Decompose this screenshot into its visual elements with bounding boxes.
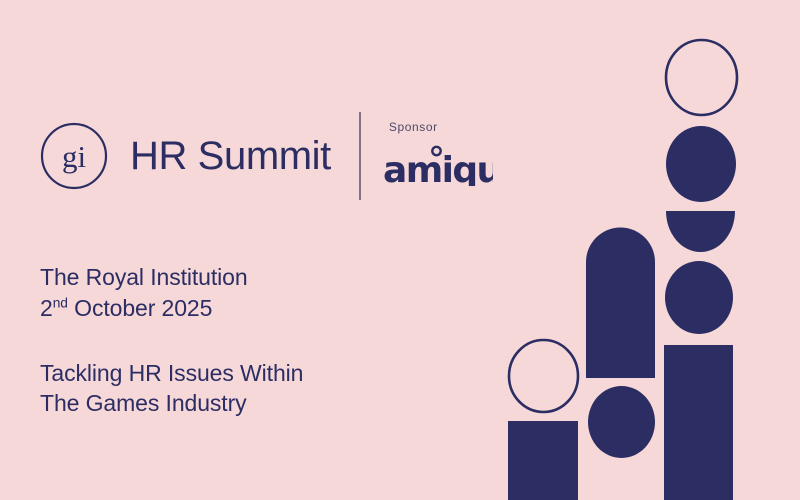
amiqus-logo-icon: amiqus: [383, 144, 493, 186]
semicircle-filled-right-icon: [666, 170, 735, 252]
arch-filled-center-icon: [586, 228, 655, 379]
gi-logo-letters: gi: [62, 139, 87, 174]
circle-outline-bottom-left-icon: [509, 340, 578, 412]
gi-logo-icon: gi: [40, 122, 108, 190]
event-date-ordinal: nd: [53, 295, 68, 310]
ellipse-filled-mid-right-icon: [665, 261, 733, 334]
event-headline: Tackling HR Issues Within The Games Indu…: [40, 358, 303, 420]
ellipse-filled-upper-right-icon: [666, 126, 736, 202]
headline-line-1: Tackling HR Issues Within: [40, 358, 303, 389]
sponsor-label: Sponsor: [389, 120, 493, 134]
decorative-shape-cluster: [0, 0, 800, 500]
venue-name: The Royal Institution: [40, 262, 303, 293]
sponsor-block: Sponsor amiqus: [383, 109, 493, 203]
poster-canvas: gi HR Summit Sponsor amiqus The Royal In…: [0, 0, 800, 500]
circle-filled-bottom-center-icon: [588, 386, 655, 458]
event-date-rest: October 2025: [68, 295, 212, 321]
brand-lockup: gi HR Summit Sponsor amiqus: [40, 110, 493, 202]
rectangle-filled-right-icon: [664, 345, 733, 500]
circle-outline-top-right-icon: [666, 40, 737, 115]
amiqus-wordmark: amiqus: [383, 150, 493, 186]
header-divider: [359, 112, 361, 200]
headline-line-2: The Games Industry: [40, 388, 303, 419]
event-date-day: 2: [40, 295, 53, 321]
event-date: 2nd October 2025: [40, 293, 303, 324]
event-details: The Royal Institution 2nd October 2025 T…: [40, 262, 303, 419]
rectangle-filled-bottom-left-icon: [508, 421, 578, 500]
page-title: HR Summit: [130, 136, 331, 176]
